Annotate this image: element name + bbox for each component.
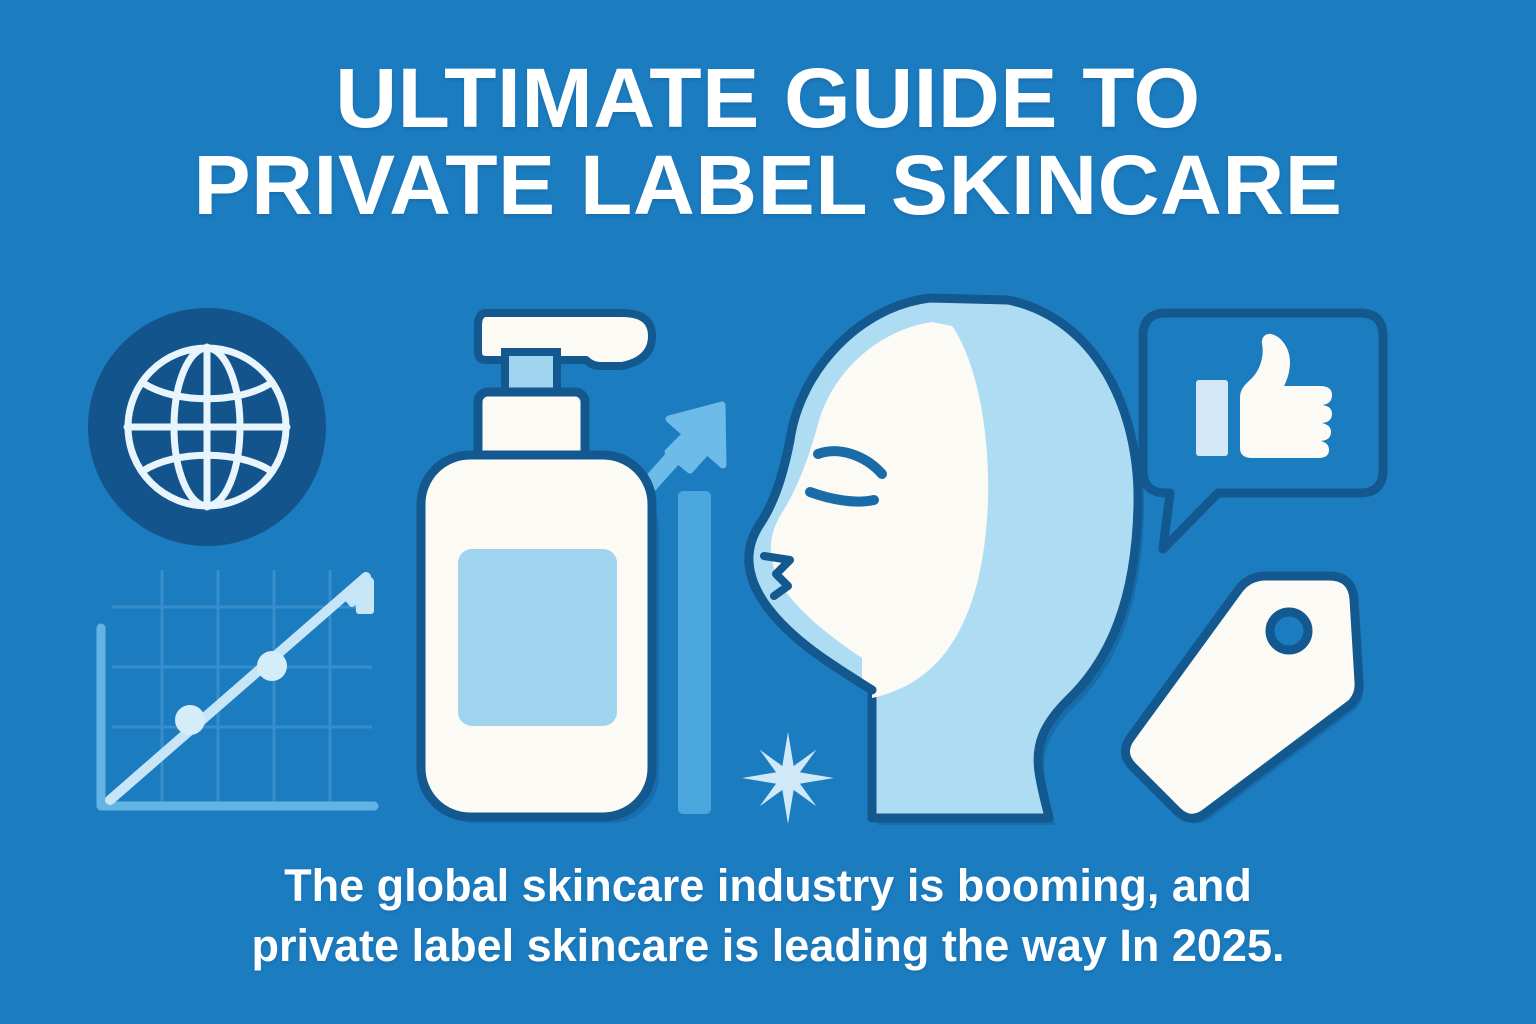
- page-subtitle-line-1: The global skincare industry is booming,…: [168, 856, 1368, 916]
- pump-bottle-icon: [421, 313, 659, 823]
- price-tag-icon: [1125, 576, 1363, 824]
- thumbs-up-speech-bubble-icon: [1143, 313, 1383, 549]
- tag-body: [1125, 576, 1359, 818]
- chart-data-point: [175, 705, 205, 735]
- chart-trend-line: [110, 577, 366, 800]
- tag-hole: [1270, 612, 1308, 650]
- page-subtitle-line-2: private label skincare is leading the wa…: [168, 916, 1368, 976]
- page-title: ULTIMATE GUIDE TO PRIVATE LABEL SKINCARE: [0, 58, 1536, 225]
- infographic-poster: ULTIMATE GUIDE TO PRIVATE LABEL SKINCARE…: [0, 0, 1536, 1024]
- chart-data-point: [257, 651, 287, 681]
- face-profile-icon: [749, 298, 1144, 825]
- globe-icon: [88, 308, 326, 546]
- page-title-line-2: PRIVATE LABEL SKINCARE: [0, 145, 1536, 226]
- page-title-line-1: ULTIMATE GUIDE TO: [0, 58, 1536, 139]
- bar-column-icon: [678, 491, 711, 814]
- page-subtitle: The global skincare industry is booming,…: [168, 856, 1368, 976]
- thumb-cuff: [1196, 380, 1228, 456]
- growth-line-chart-icon: [101, 570, 374, 806]
- chart-axis: [101, 628, 374, 806]
- bottle-label: [458, 549, 617, 726]
- sparkle-icon: [731, 721, 844, 834]
